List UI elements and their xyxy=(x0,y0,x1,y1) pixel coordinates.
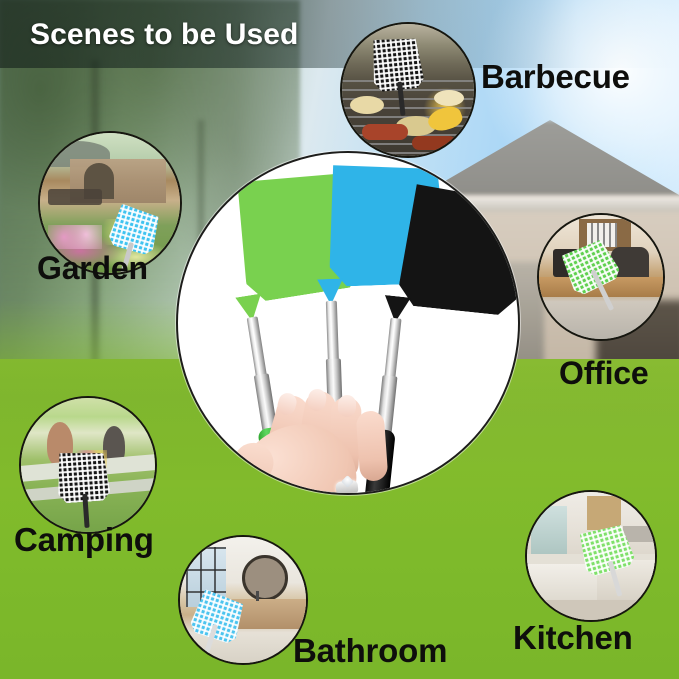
kitchen-scene-image xyxy=(527,492,655,620)
swatter-head-black xyxy=(397,181,520,317)
page-title: Scenes to be Used xyxy=(30,18,298,52)
mini-swatter-black xyxy=(369,34,424,93)
mini-swatter-head xyxy=(107,202,163,257)
kitchen-floor xyxy=(527,600,655,620)
flower-bed xyxy=(48,225,102,249)
finger-pinky xyxy=(356,410,389,482)
mini-swatter-blue xyxy=(107,202,163,257)
camping-scene-image xyxy=(21,398,155,532)
round-mirror xyxy=(242,555,288,601)
scene-label-garden: Garden xyxy=(37,250,148,287)
scene-label-barbecue: Barbecue xyxy=(481,58,630,96)
scene-thumbnail-barbecue xyxy=(340,22,476,158)
grilled-food xyxy=(350,96,384,114)
bathroom-scene-image xyxy=(180,537,306,663)
scene-label-office: Office xyxy=(559,355,649,392)
scene-thumbnail-office xyxy=(537,213,665,341)
office-scene-image xyxy=(539,215,663,339)
product-scenes-poster: Scenes to be Used xyxy=(0,0,679,679)
scene-label-kitchen: Kitchen xyxy=(513,619,633,657)
hero-product-image xyxy=(178,153,518,493)
scene-thumbnail-bathroom xyxy=(178,535,308,665)
skewer xyxy=(362,124,408,140)
hand-holding-swatters xyxy=(226,389,408,495)
mini-swatter-black xyxy=(55,448,111,504)
scene-label-camping: Camping xyxy=(14,521,154,559)
scene-thumbnail-kitchen xyxy=(525,490,657,622)
barbecue-scene-image xyxy=(342,24,474,156)
faucet xyxy=(256,591,259,601)
kitchen-window xyxy=(531,506,567,554)
scene-thumbnail-camping xyxy=(19,396,157,534)
hero-product-circle xyxy=(176,151,520,495)
patio-table xyxy=(48,189,102,205)
skewer xyxy=(412,136,456,150)
grilled-food xyxy=(434,90,464,106)
scene-label-bathroom: Bathroom xyxy=(293,632,447,670)
